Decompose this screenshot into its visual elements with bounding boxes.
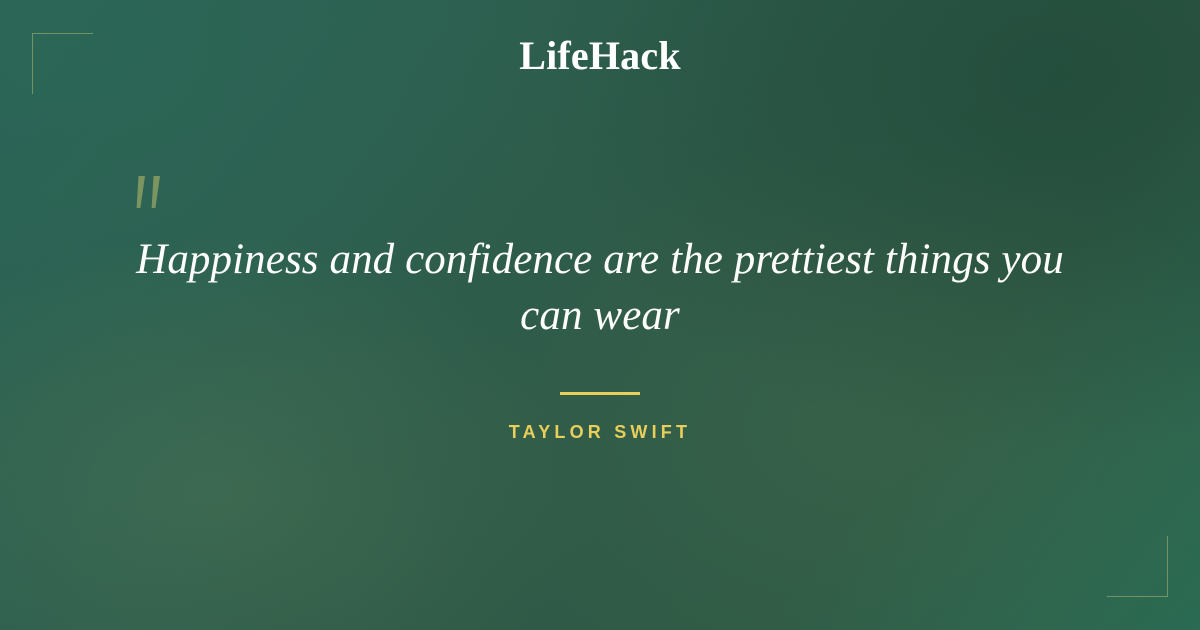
quote-card: LifeHack Happiness and confidence are th…: [0, 0, 1200, 630]
quote-author: TAYLOR SWIFT: [100, 422, 1100, 443]
quote-text: Happiness and confidence are the prettie…: [100, 232, 1100, 344]
quote-block: Happiness and confidence are the prettie…: [100, 232, 1100, 443]
corner-bracket-bottom-right-icon: [1107, 536, 1168, 597]
divider: [560, 392, 640, 395]
brand-logo: LifeHack: [0, 36, 1200, 76]
double-quote-icon: [128, 170, 174, 218]
